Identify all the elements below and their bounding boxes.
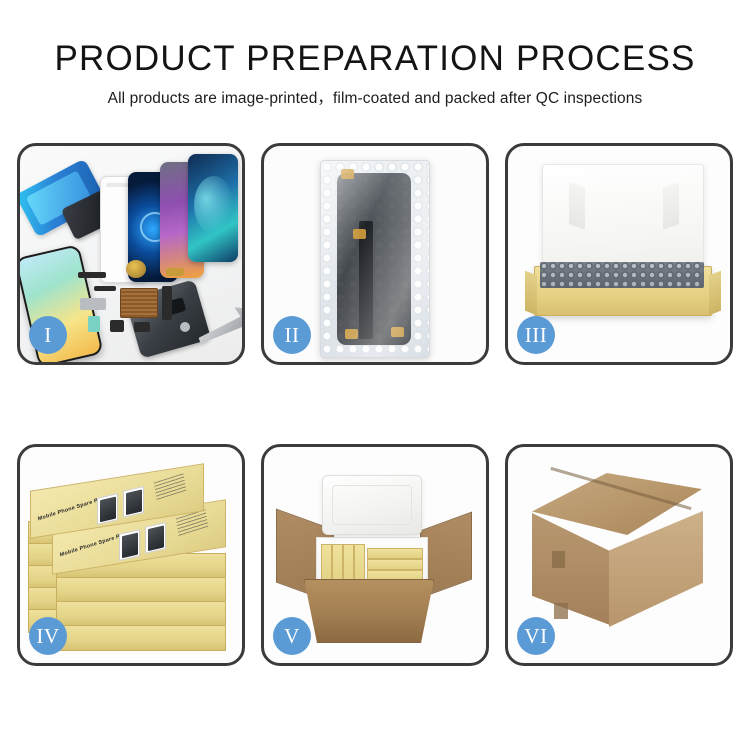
process-step-grid: I II	[17, 143, 733, 680]
lid-flap-left	[569, 182, 585, 229]
carton-body	[304, 579, 434, 643]
carton-left-face	[532, 513, 610, 625]
step-panel-5[interactable]: V	[261, 444, 489, 666]
box-window-second-right	[145, 522, 166, 554]
carton-tape-upper	[552, 551, 565, 568]
ribbon-part	[94, 286, 116, 291]
wrapped-lcd-screen	[337, 173, 411, 345]
gold-tab-bottom-right	[391, 327, 404, 337]
camera-module-part	[110, 320, 124, 332]
stacked-box-r2	[56, 577, 226, 603]
battery-part	[88, 316, 100, 332]
carton-tape-lower	[554, 603, 568, 619]
infographic-page: PRODUCT PREPARATION PROCESS All products…	[0, 0, 750, 750]
speaker-part	[126, 260, 146, 278]
step-badge-1: I	[29, 316, 67, 354]
bubble-wrap-bag	[320, 160, 430, 358]
step-badge-3: III	[517, 316, 555, 354]
vibrator-part	[134, 322, 150, 332]
page-subtitle: All products are image-printed，film-coat…	[0, 89, 750, 109]
box-window-second-left	[119, 529, 140, 561]
step-badge-4: IV	[29, 617, 67, 655]
page-title: PRODUCT PREPARATION PROCESS	[0, 38, 750, 80]
step-panel-3[interactable]: III	[505, 143, 733, 365]
box-specs-top	[154, 473, 186, 500]
logic-board-part	[120, 288, 158, 318]
bubble-wrapped-contents	[540, 262, 704, 288]
flex-cable-part	[78, 272, 106, 278]
step-badge-2: II	[273, 316, 311, 354]
step-panel-6[interactable]: VI	[505, 444, 733, 666]
gold-tab-middle	[353, 229, 366, 239]
box-window-top-right	[123, 486, 144, 518]
header: PRODUCT PREPARATION PROCESS All products…	[0, 38, 750, 109]
step-badge-6: VI	[517, 617, 555, 655]
step-panel-1[interactable]: I	[17, 143, 245, 365]
step-badge-5: V	[273, 617, 311, 655]
gold-connector-part	[166, 268, 184, 276]
small-parts-cluster	[82, 264, 242, 362]
lid-flap-right	[663, 182, 679, 229]
packed-box-6	[367, 559, 423, 570]
box-window-top-left	[97, 493, 118, 525]
step-panel-4[interactable]: Mobile Phone Spare Parts Mobile Phone Sp…	[17, 444, 245, 666]
step-panel-2[interactable]: II	[261, 143, 489, 365]
gold-tab-bottom-left	[345, 329, 358, 339]
antenna-flex-part	[162, 286, 172, 320]
metal-bracket-part	[80, 298, 106, 310]
gold-tab-top	[341, 169, 354, 179]
stacked-box-r4	[56, 625, 226, 651]
packed-box-5	[367, 548, 423, 559]
lcd-screen-teal	[188, 154, 238, 262]
foam-lid	[322, 475, 422, 535]
screw-part	[180, 322, 190, 332]
stacked-box-r3	[56, 601, 226, 627]
